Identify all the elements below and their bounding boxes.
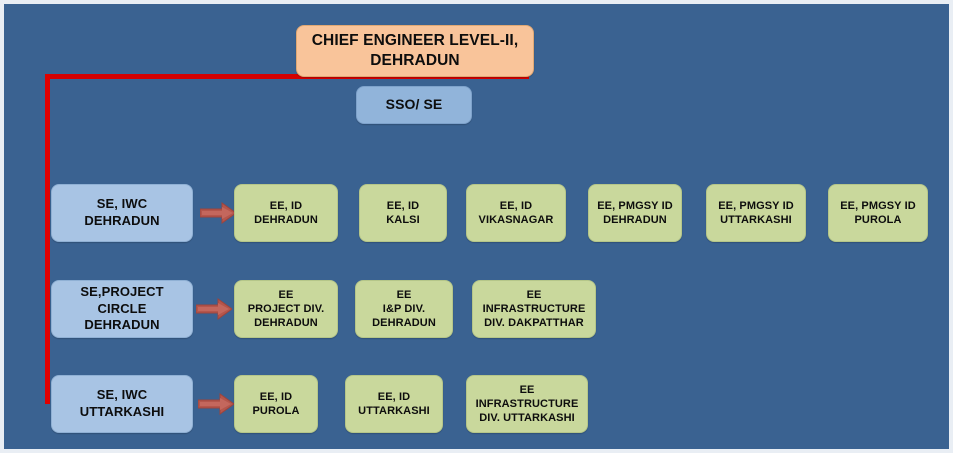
node-ee-id-kalsi[interactable]: EE, ID KALSI [359,184,447,242]
connector-vertical [45,74,50,404]
node-sso-se[interactable]: SSO/ SE [356,86,472,124]
arrow-right-icon [196,297,232,321]
node-ee-infrastructure-div-uttarkashi[interactable]: EE INFRASTRUCTURE DIV. UTTARKASHI [466,375,588,433]
node-se-iwc-dehradun[interactable]: SE, IWC DEHRADUN [51,184,193,242]
node-chief-engineer[interactable]: CHIEF ENGINEER LEVEL-II, DEHRADUN [296,25,534,77]
node-ee-ip-div-dehradun[interactable]: EE I&P DIV. DEHRADUN [355,280,453,338]
node-ee-pmgsy-id-dehradun[interactable]: EE, PMGSY ID DEHRADUN [588,184,682,242]
node-ee-id-vikasnagar[interactable]: EE, ID VIKASNAGAR [466,184,566,242]
node-se-iwc-uttarkashi[interactable]: SE, IWC UTTARKASHI [51,375,193,433]
node-ee-pmgsy-id-purola[interactable]: EE, PMGSY ID PUROLA [828,184,928,242]
node-ee-infrastructure-div-dakpatthar[interactable]: EE INFRASTRUCTURE DIV. DAKPATTHAR [472,280,596,338]
arrow-right-icon [198,392,234,416]
org-chart-canvas: CHIEF ENGINEER LEVEL-II, DEHRADUN SSO/ S… [0,0,953,453]
node-ee-id-uttarkashi[interactable]: EE, ID UTTARKASHI [345,375,443,433]
node-ee-id-purola[interactable]: EE, ID PUROLA [234,375,318,433]
arrow-right-icon [200,201,236,225]
node-ee-id-dehradun[interactable]: EE, ID DEHRADUN [234,184,338,242]
node-se-project-circle-dehradun[interactable]: SE,PROJECT CIRCLE DEHRADUN [51,280,193,338]
node-ee-project-div-dehradun[interactable]: EE PROJECT DIV. DEHRADUN [234,280,338,338]
node-ee-pmgsy-id-uttarkashi[interactable]: EE, PMGSY ID UTTARKASHI [706,184,806,242]
